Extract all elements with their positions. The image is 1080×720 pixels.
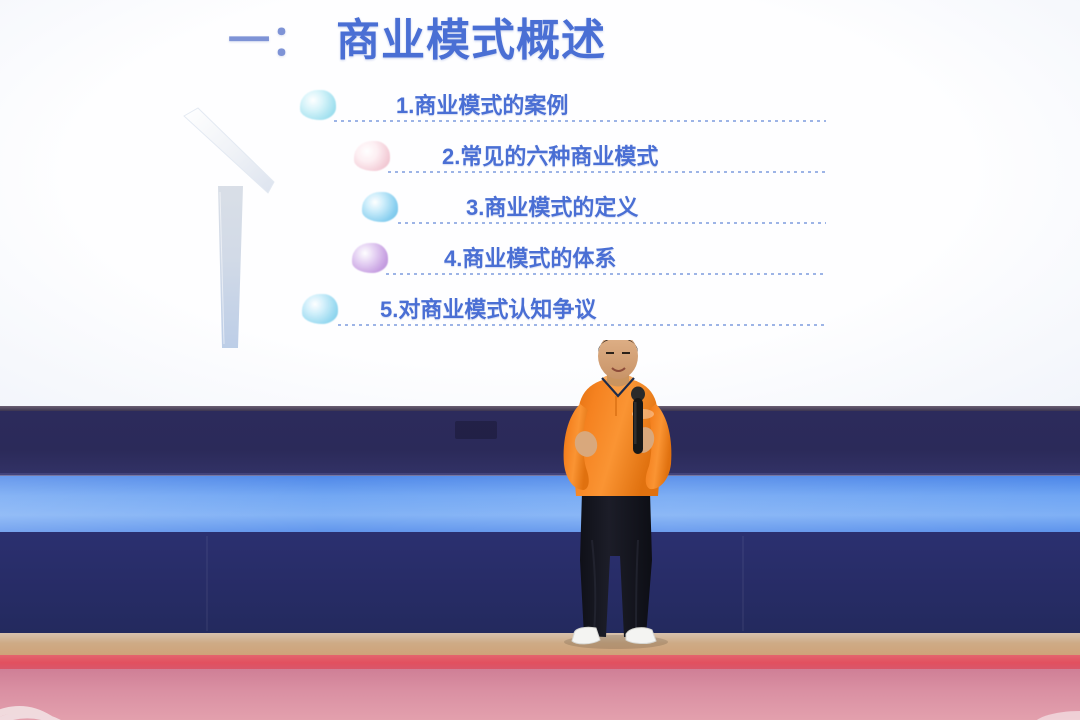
- list-item-label: 3.商业模式的定义: [466, 190, 638, 222]
- windmill-svg: [176, 100, 306, 350]
- list-item-label: 5.对商业模式认知争议: [380, 292, 596, 324]
- presenter-left-shoe: [572, 627, 600, 644]
- carpet-red-stripe: [0, 655, 1080, 669]
- blob-bullet-blue: [362, 192, 398, 222]
- stage-vent-panel: [455, 421, 497, 439]
- carpet-cloud-motif-right: [970, 693, 1080, 720]
- list-item-label: 1.商业模式的案例: [396, 88, 568, 120]
- handheld-microphone: [631, 387, 645, 455]
- slide-title-main: 商业模式概述: [336, 4, 606, 68]
- dotted-leader: [384, 273, 826, 275]
- slide-title: 一： 商业模式概述: [228, 4, 606, 68]
- list-item-label: 2.常见的六种商业模式: [442, 139, 658, 171]
- list-item: 4.商业模式的体系: [296, 241, 816, 292]
- blob-bullet-purple: [352, 243, 388, 273]
- list-item: 5.对商业模式认知争议: [296, 292, 816, 343]
- presenter-trousers: [580, 492, 652, 637]
- dotted-leader: [332, 120, 826, 122]
- stage-panel-seam: [742, 536, 744, 631]
- list-item: 2.常见的六种商业模式: [296, 139, 816, 190]
- slide-title-number: 一：: [228, 7, 314, 68]
- stage-panel-seam: [206, 536, 208, 631]
- blob-bullet-pink: [354, 141, 390, 171]
- carpet-cloud-motif-left: [0, 679, 200, 720]
- presenter-head: [598, 340, 638, 379]
- blob-bullet-cyan: [300, 90, 336, 120]
- slide-agenda-list: 1.商业模式的案例 2.常见的六种商业模式 3.商业模式的定义 4.商业模式的体…: [296, 88, 816, 343]
- presenter-right-shoe: [626, 628, 656, 644]
- dotted-leader: [386, 171, 826, 173]
- list-item-label: 4.商业模式的体系: [444, 241, 616, 273]
- conference-stage-scene: 一： 商业模式概述 1.商业模式的案例 2.常见的六种商业模式 3.商业模式的定…: [0, 0, 1080, 720]
- windmill-graphic: [176, 100, 306, 350]
- list-item: 1.商业模式的案例: [296, 88, 816, 139]
- presenter: [540, 340, 690, 650]
- dotted-leader: [336, 324, 826, 326]
- presenter-figure: [540, 340, 690, 650]
- blob-bullet-skyblue: [302, 294, 338, 324]
- list-item: 3.商业模式的定义: [296, 190, 816, 241]
- dotted-leader: [396, 222, 826, 224]
